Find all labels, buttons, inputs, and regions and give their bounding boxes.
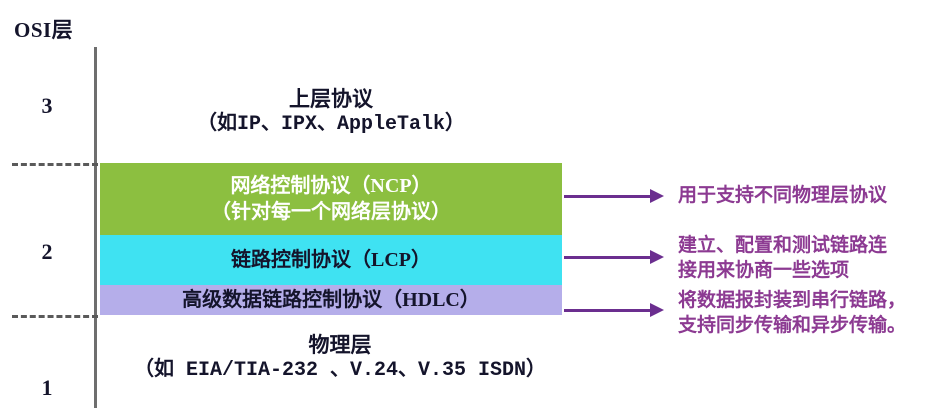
arrow-right-icon xyxy=(564,250,666,264)
layer-divider-3-2 xyxy=(12,163,98,166)
vertical-axis-line xyxy=(94,47,97,408)
arrow-right-icon xyxy=(564,303,666,317)
arrow-head xyxy=(650,250,664,264)
arrow-shaft xyxy=(564,256,652,259)
osi-layer-number-2: 2 xyxy=(0,239,94,265)
physical-layer-block: 物理层 （如 EIA/TIA-232 、V.24、V.35 ISDN） xyxy=(100,332,580,384)
annotation-hdlc-line2: 支持同步传输和异步传输。 xyxy=(678,313,906,338)
protocol-band-hdlc[interactable]: 高级数据链路控制协议（HDLC） xyxy=(100,285,562,315)
annotation-lcp-line2: 接用来协商一些选项 xyxy=(678,258,887,283)
arrow-shaft xyxy=(564,195,652,198)
annotation-ncp-text: 用于支持不同物理层协议 xyxy=(678,183,887,208)
arrow-shaft xyxy=(564,309,652,312)
arrow-head xyxy=(650,303,664,317)
upper-protocols-block: 上层协议 （如IP、IPX、AppleTalk） xyxy=(100,86,562,138)
annotation-lcp-text: 建立、配置和测试链路连 接用来协商一些选项 xyxy=(678,233,887,283)
axis-title: OSI层 xyxy=(14,14,73,44)
osi-ppp-diagram: OSI层 3 2 1 上层协议 （如IP、IPX、AppleTalk） 网络控制… xyxy=(0,0,934,408)
protocol-band-lcp-line1: 链路控制协议（LCP） xyxy=(231,247,431,273)
annotation-hdlc-text: 将数据报封装到串行链路， 支持同步传输和异步传输。 xyxy=(678,288,906,338)
physical-layer-examples: （如 EIA/TIA-232 、V.24、V.35 ISDN） xyxy=(100,358,580,384)
arrow-head xyxy=(650,189,664,203)
osi-layer-number-1: 1 xyxy=(0,375,94,401)
protocol-band-lcp[interactable]: 链路控制协议（LCP） xyxy=(100,235,562,285)
protocol-band-ncp-line2: （针对每一个网络层协议） xyxy=(211,199,451,225)
protocol-band-ncp-line1: 网络控制协议（NCP） xyxy=(230,173,431,199)
protocol-band-ncp[interactable]: 网络控制协议（NCP） （针对每一个网络层协议） xyxy=(100,163,562,235)
physical-layer-title: 物理层 xyxy=(100,332,580,358)
annotation-lcp-line1: 建立、配置和测试链路连 xyxy=(678,233,887,258)
upper-protocols-examples: （如IP、IPX、AppleTalk） xyxy=(100,112,562,138)
annotation-ncp-line1: 用于支持不同物理层协议 xyxy=(678,183,887,208)
annotation-hdlc-line1: 将数据报封装到串行链路， xyxy=(678,288,906,313)
osi-layer-number-3: 3 xyxy=(0,93,94,119)
upper-protocols-title: 上层协议 xyxy=(100,86,562,112)
arrow-right-icon xyxy=(564,189,666,203)
layer-divider-2-1 xyxy=(12,315,98,318)
protocol-band-hdlc-line1: 高级数据链路控制协议（HDLC） xyxy=(182,287,480,313)
